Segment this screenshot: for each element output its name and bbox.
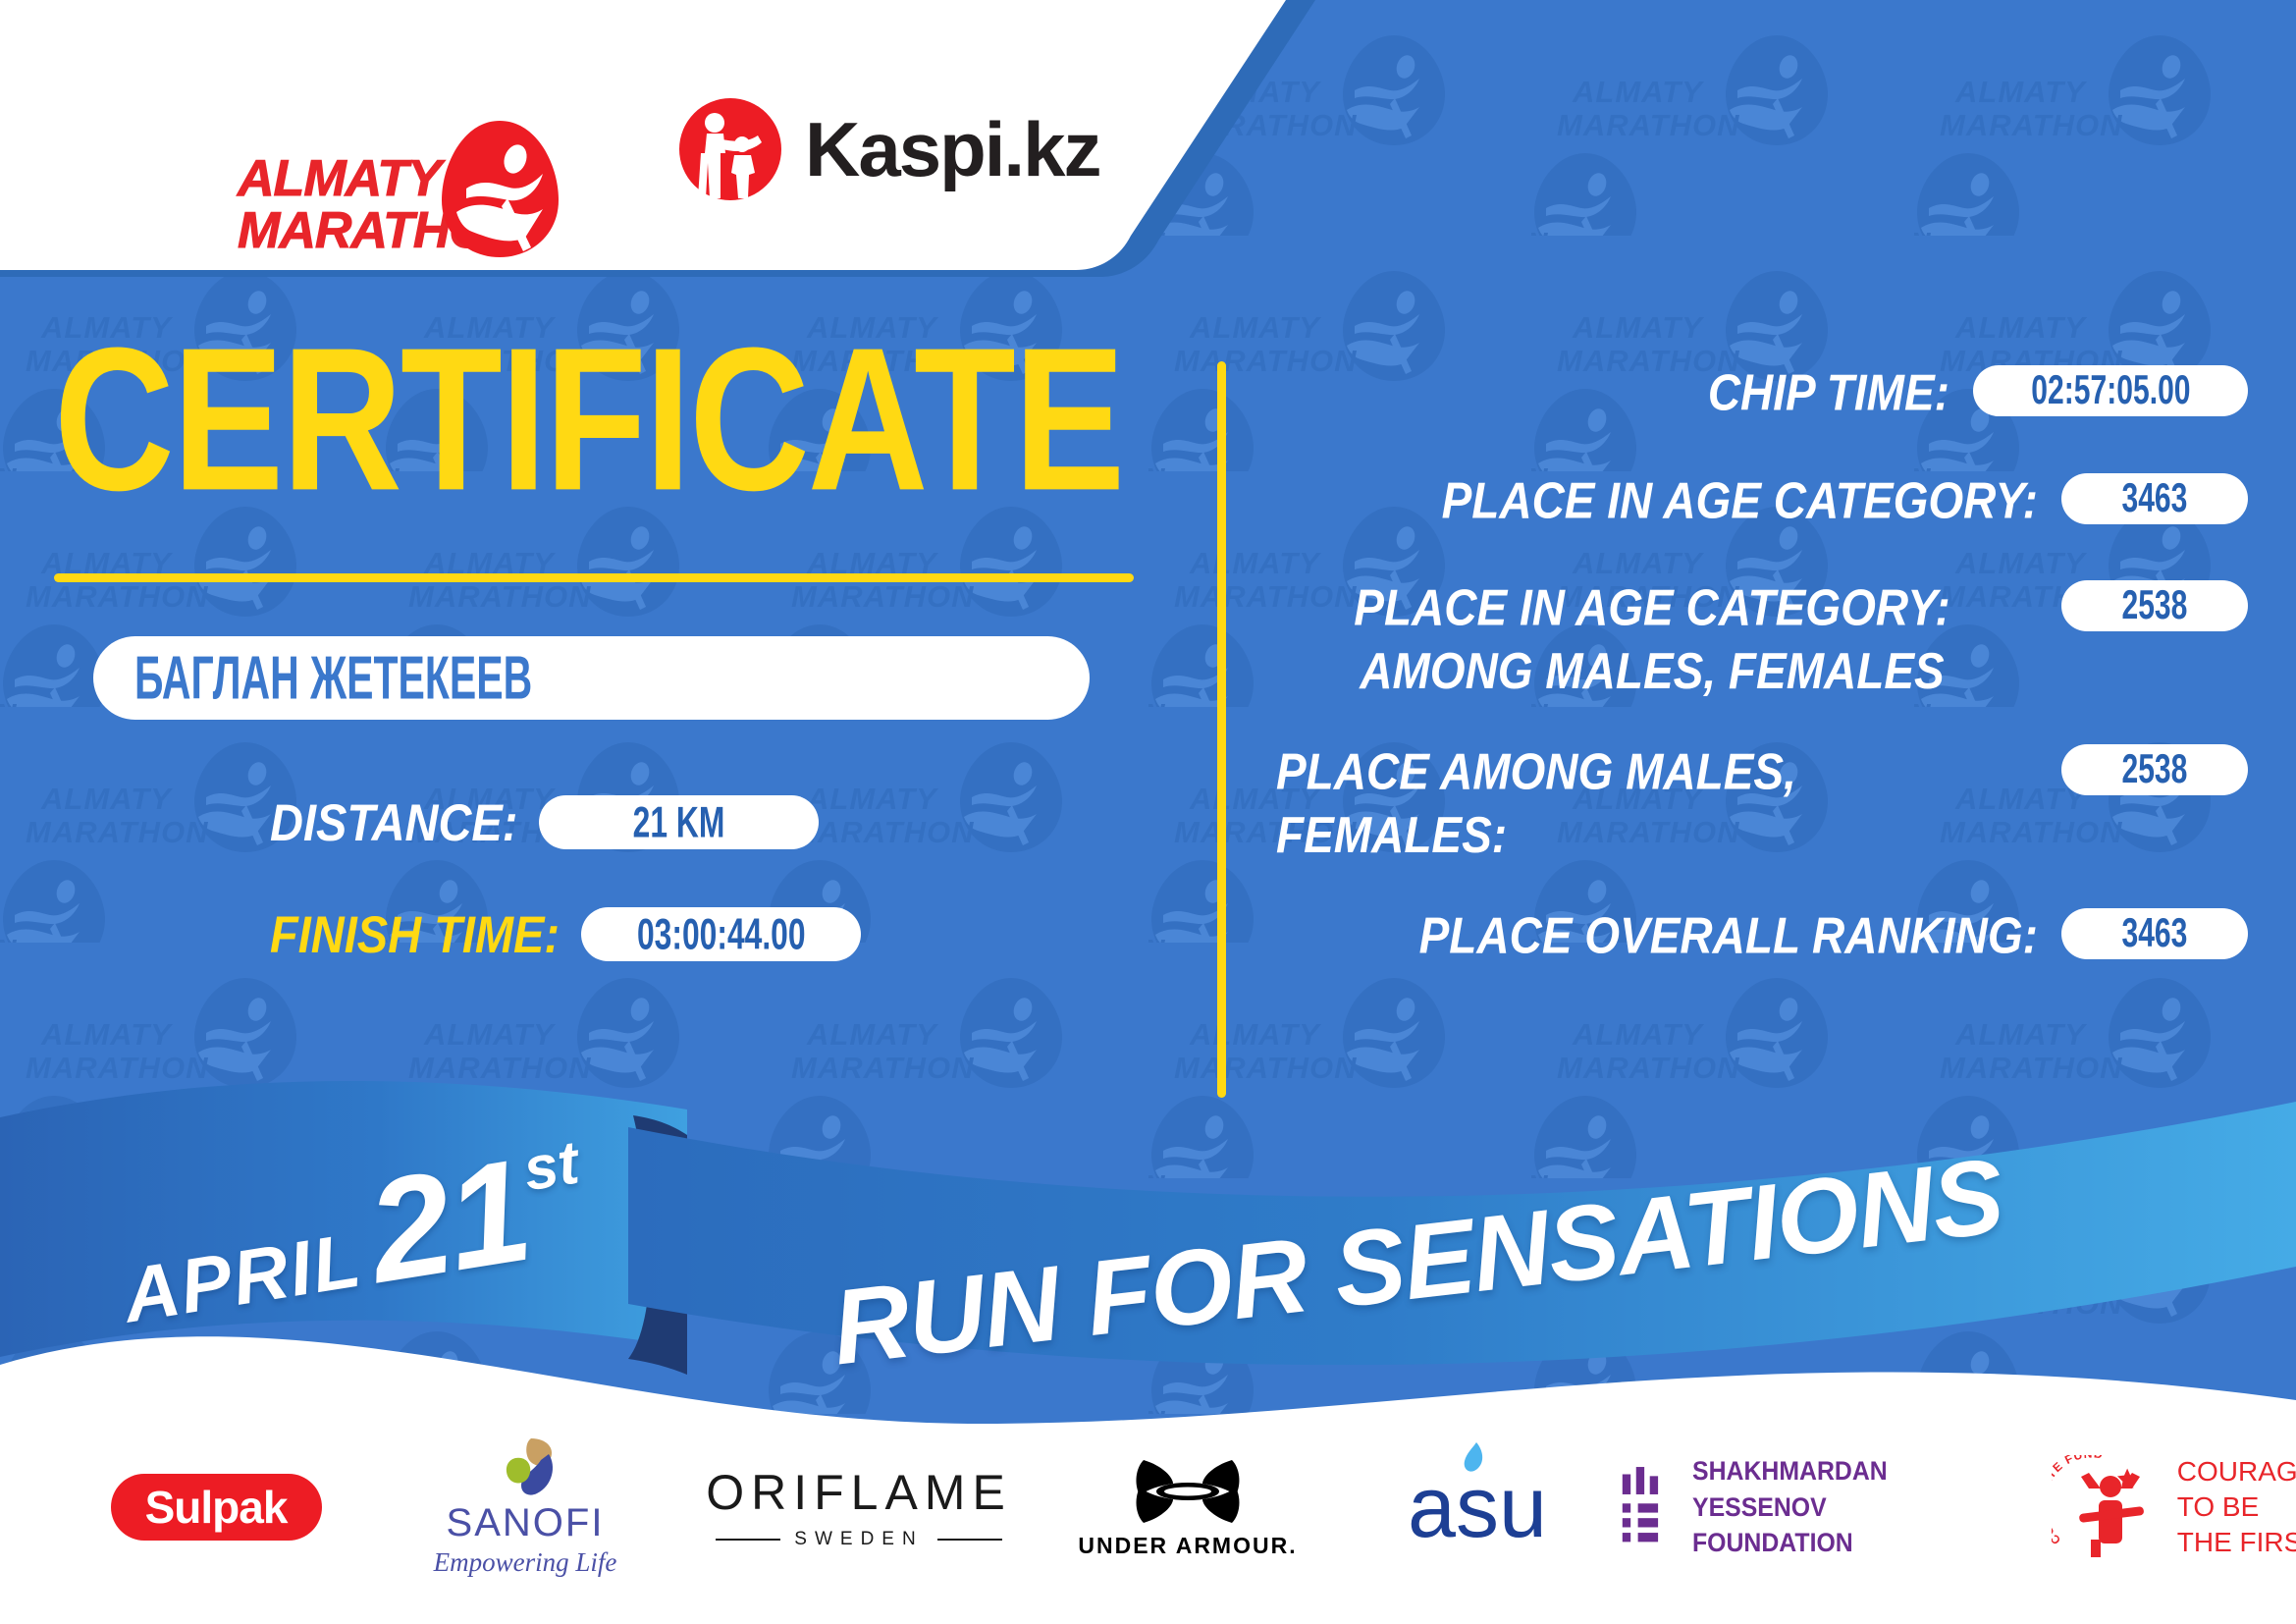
sponsor-sanofi: SANOFI Empowering Life: [383, 1429, 667, 1586]
chip-time-value-pill: 02:57:05.00: [1973, 365, 2248, 416]
runner-name-value: БАГЛАН ЖЕТЕКЕЕВ: [134, 642, 532, 714]
sponsor-asu: asu: [1345, 1429, 1610, 1586]
place-age-category-label: PLACE IN AGE CATEGORY:: [1266, 469, 2061, 532]
title-underline: [54, 573, 1134, 582]
sponsor-oriflame: ORIFLAME SWEDEN: [697, 1429, 1021, 1586]
header-logos: ALMATY MARATHON Kaspi.kz: [0, 0, 1178, 285]
kaspi-family-circle-icon: [677, 96, 783, 202]
yessenov-line2: FOUNDATION: [1692, 1525, 2004, 1560]
sanofi-wordmark: SANOFI: [447, 1501, 605, 1545]
distance-value-pill: 21 KM: [539, 795, 819, 849]
finish-time-label: FINISH TIME:: [270, 904, 560, 965]
finish-time-value: 03:00:44.00: [637, 909, 806, 958]
place-age-category-value: 3463: [2122, 475, 2188, 522]
page-title: CERTIFICATE: [54, 324, 1178, 517]
oriflame-wordmark: ORIFLAME: [706, 1464, 1012, 1521]
stat-row: PLACE IN AGE CATEGORY: AMONG MALES, FEMA…: [1266, 576, 2248, 689]
place-among-gender-value: 2538: [2122, 746, 2188, 793]
event-day-suffix: st: [519, 1128, 584, 1206]
stat-row: CHIP TIME: 02:57:05.00: [1266, 361, 2248, 418]
finish-time-row: FINISH TIME: 03:00:44.00: [270, 904, 1178, 965]
place-overall-label: PLACE OVERALL RANKING:: [1266, 904, 2061, 967]
certificate-canvas: ALMATY MARATHON ALMATY MARATHON: [0, 0, 2296, 1624]
sulpak-wordmark: Sulpak: [145, 1481, 288, 1534]
asu-wordmark: asu: [1408, 1458, 1547, 1555]
sponsor-courage-fund: CORPORATE FUND COURAGE TO BE THE FIRST!: [2042, 1429, 2296, 1586]
sponsor-under-armour: UNDER ARMOUR.: [1041, 1429, 1335, 1586]
sponsor-sulpak: Sulpak: [69, 1429, 363, 1586]
courage-wordmark: COURAGE TO BE THE FIRST!: [2177, 1454, 2296, 1559]
corporate-fund-figure-icon: CORPORATE FUND: [2052, 1455, 2162, 1559]
finish-time-value-pill: 03:00:44.00: [581, 907, 861, 961]
vertical-divider: [1217, 361, 1226, 1098]
yessenov-bars-icon: [1620, 1464, 1671, 1550]
event-day: 21: [357, 1127, 539, 1317]
kaspi-wordmark: Kaspi.kz: [805, 105, 1099, 194]
place-age-category-gender-value: 2538: [2122, 582, 2188, 629]
chip-time-value: 02:57:05.00: [2031, 367, 2190, 414]
chip-time-label: CHIP TIME:: [1266, 361, 1973, 424]
distance-label: DISTANCE:: [270, 792, 517, 853]
place-age-category-value-pill: 3463: [2061, 473, 2248, 524]
sponsor-yessenov-foundation: SHAKHMARDAN YESSENOV FOUNDATION: [1620, 1429, 2032, 1586]
oriflame-rule-right: [937, 1539, 1002, 1541]
sulpak-logo: Sulpak: [111, 1474, 322, 1541]
place-overall-value: 3463: [2122, 910, 2188, 957]
oriflame-subline: SWEDEN: [716, 1529, 1001, 1550]
courage-line1: COURAGE: [2177, 1454, 2296, 1489]
oriflame-country: SWEDEN: [794, 1529, 923, 1550]
sanofi-bird-icon: [488, 1436, 562, 1497]
stat-row: PLACE IN AGE CATEGORY: 3463: [1266, 469, 2248, 526]
left-column: CERTIFICATE БАГЛАН ЖЕТЕКЕЕВ DISTANCE: 21…: [0, 324, 1178, 965]
almaty-marathon-logo: ALMATY MARATHON: [118, 59, 461, 216]
oriflame-rule-left: [716, 1539, 780, 1541]
almaty-marathon-runner-drop-icon: [439, 118, 561, 260]
corporate-fund-arc-text: CORPORATE FUND: [2052, 1455, 2105, 1547]
event-month: APRIL: [117, 1215, 367, 1340]
sponsor-bar: Sulpak SANOFI Empowering Life ORIFLAME S…: [0, 1429, 2296, 1586]
place-overall-value-pill: 3463: [2061, 908, 2248, 959]
kaspi-logo: Kaspi.kz: [677, 96, 1099, 202]
sanofi-tagline: Empowering Life: [434, 1547, 617, 1578]
place-age-category-gender-value-pill: 2538: [2061, 580, 2248, 631]
place-age-category-gender-label: PLACE IN AGE CATEGORY: AMONG MALES, FEMA…: [1266, 576, 2061, 703]
stat-row: PLACE OVERALL RANKING: 3463: [1266, 904, 2248, 961]
courage-line2: TO BE: [2177, 1489, 2296, 1525]
place-among-gender-value-pill: 2538: [2061, 744, 2248, 795]
yessenov-line1: SHAKHMARDAN YESSENOV: [1692, 1453, 2004, 1525]
distance-value: 21 KM: [633, 797, 725, 846]
svg-text:CORPORATE FUND: CORPORATE FUND: [2052, 1455, 2105, 1547]
under-armour-logo-icon: [1130, 1456, 1246, 1527]
place-among-gender-label: PLACE AMONG MALES, FEMALES:: [1266, 740, 2061, 867]
stat-row: PLACE AMONG MALES, FEMALES: 2538: [1266, 740, 2248, 853]
distance-row: DISTANCE: 21 KM: [270, 792, 1178, 853]
yessenov-wordmark: SHAKHMARDAN YESSENOV FOUNDATION: [1692, 1453, 2004, 1560]
runner-name-field: БАГЛАН ЖЕТЕКЕЕВ: [93, 636, 1090, 720]
right-column-stats: CHIP TIME: 02:57:05.00 PLACE IN AGE CATE…: [1266, 361, 2248, 1012]
under-armour-wordmark: UNDER ARMOUR.: [1078, 1533, 1297, 1559]
courage-line3: THE FIRST!: [2177, 1525, 2296, 1560]
